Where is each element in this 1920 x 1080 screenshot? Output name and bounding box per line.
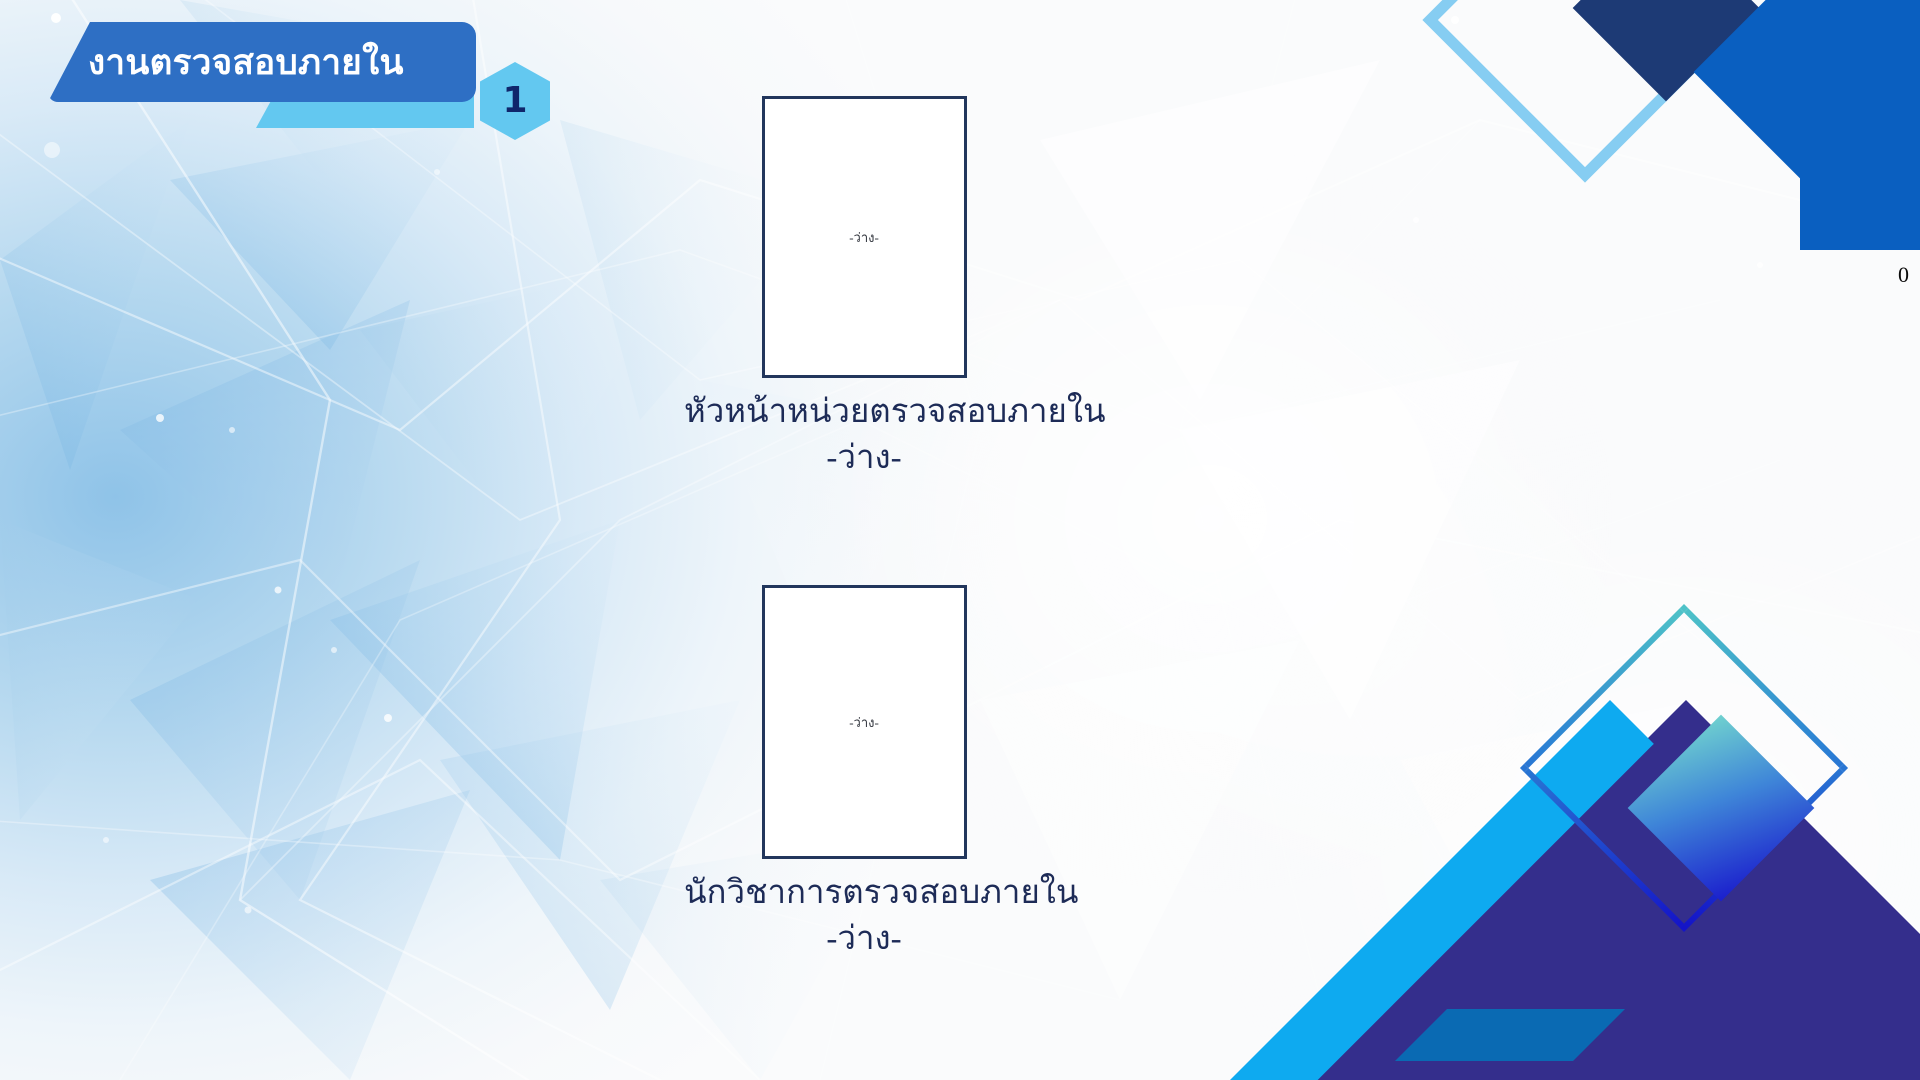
person-card-head-of-unit: -ว่าง- หัวหน้าหน่วยตรวจสอบภายใน -ว่าง- — [684, 96, 1044, 479]
title-banner: งานตรวจสอบภายใน — [48, 22, 476, 102]
slide-number-label: 1 — [502, 83, 527, 119]
photo-placeholder-label: -ว่าง- — [849, 712, 879, 733]
photo-placeholder-box[interactable]: -ว่าง- — [762, 96, 967, 378]
person-role-label: นักวิชาการตรวจสอบภายใน — [684, 873, 1044, 915]
photo-placeholder-label: -ว่าง- — [849, 227, 879, 248]
stray-character-artifact: 0 — [1898, 262, 1909, 288]
slide-canvas: 0 งานตรวจสอบภายใน 1 -ว่าง- หัวหน้าหน่วยต… — [0, 0, 1920, 1080]
person-role-label: หัวหน้าหน่วยตรวจสอบภายใน — [684, 392, 1044, 434]
slide-title: งานตรวจสอบภายใน — [88, 35, 404, 90]
photo-placeholder-box[interactable]: -ว่าง- — [762, 585, 967, 859]
person-name-label: -ว่าง- — [684, 438, 1044, 480]
person-card-audit-officer: -ว่าง- นักวิชาการตรวจสอบภายใน -ว่าง- — [684, 585, 1044, 960]
person-name-label: -ว่าง- — [684, 919, 1044, 961]
